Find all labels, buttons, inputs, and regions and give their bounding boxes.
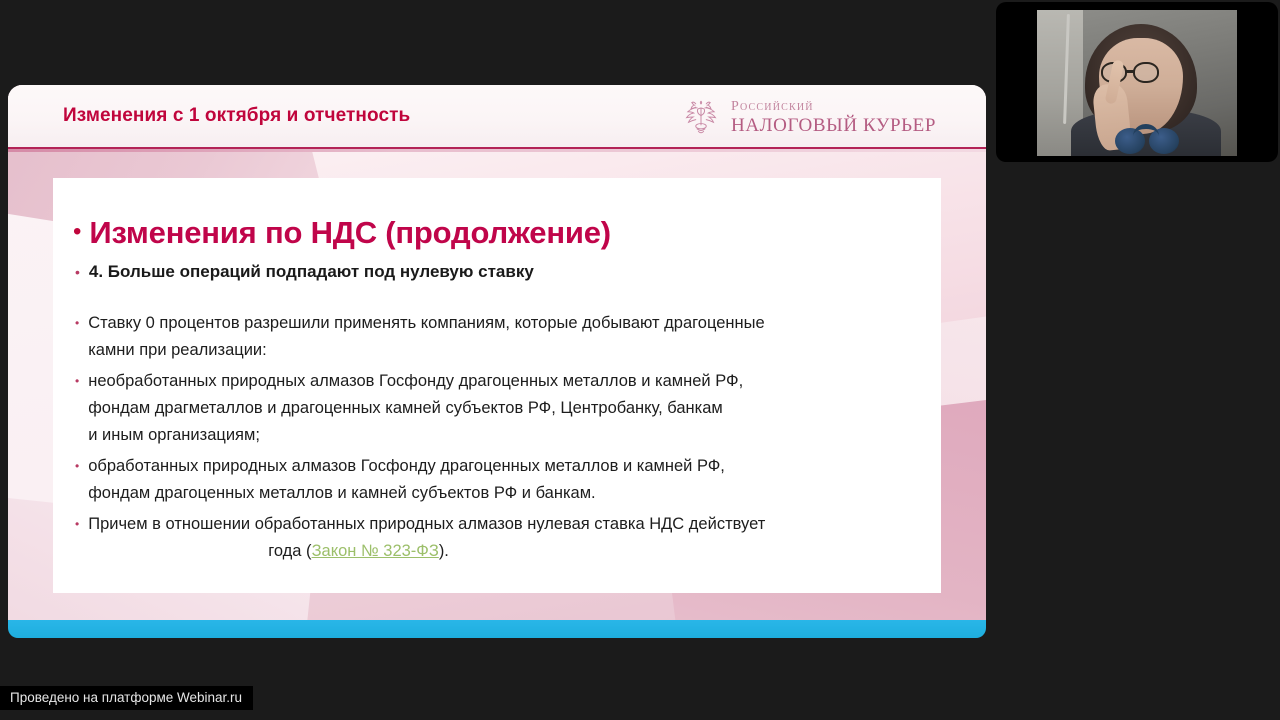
- logo-line-2: НАЛОГОВЫЙ КУРЬЕР: [731, 116, 936, 135]
- list-item-line: Причем в отношении обработанных природны…: [88, 511, 765, 538]
- content-heading-row: • Изменения по НДС (продолжение): [73, 212, 919, 254]
- webcam-video-frame: [1037, 10, 1237, 156]
- list-item-line: и иным организациям;: [88, 422, 743, 449]
- content-heading: Изменения по НДС (продолжение): [89, 212, 611, 254]
- slide-content-card: • Изменения по НДС (продолжение) • 4. Бо…: [53, 178, 941, 593]
- presentation-slide: Изменения с 1 октября и отчетность: [8, 85, 986, 638]
- platform-caption: Проведено на платформе Webinar.ru: [0, 686, 253, 710]
- page-title: Изменения с 1 октября и отчетность: [63, 105, 410, 127]
- list-item-line-with-link: года (Закон № 323-ФЗ).: [88, 538, 765, 565]
- content-subheading: 4. Больше операций подпадают под нулевую…: [89, 260, 534, 284]
- list-item: • обработанных природных алмазов Госфонд…: [75, 453, 919, 507]
- list-item-text: обработанных природных алмазов Госфонду …: [88, 453, 725, 507]
- list-item: • необработанных природных алмазов Госфо…: [75, 368, 919, 449]
- heading-bullet-icon: •: [73, 212, 81, 252]
- list-item-with-link: • Причем в отношении обработанных природ…: [75, 511, 919, 565]
- bullet-icon: •: [75, 511, 79, 538]
- slide-bottom-bar: [8, 620, 986, 638]
- slide-header: Изменения с 1 октября и отчетность: [8, 85, 986, 149]
- law-link[interactable]: Закон № 323-ФЗ: [312, 542, 439, 560]
- list-item-line: Ставку 0 процентов разрешили применять к…: [88, 310, 764, 337]
- brand-logo: Российский НАЛОГОВЫЙ КУРЬЕР: [680, 96, 936, 138]
- double-headed-eagle-icon: [680, 96, 722, 138]
- bullet-icon: •: [75, 310, 79, 337]
- list-item-line: обработанных природных алмазов Госфонду …: [88, 453, 725, 480]
- list-item-text: необработанных природных алмазов Госфонд…: [88, 368, 743, 449]
- list-item-text: Причем в отношении обработанных природны…: [88, 511, 765, 565]
- bullet-list: • Ставку 0 процентов разрешили применять…: [67, 310, 919, 565]
- link-suffix-text: ).: [439, 542, 449, 560]
- logo-line-1: Российский: [731, 100, 936, 114]
- screen: Изменения с 1 октября и отчетность: [0, 0, 1280, 720]
- header-accent-bar: [8, 149, 986, 152]
- list-item-line: фондам драгоценных металлов и камней суб…: [88, 480, 725, 507]
- eyeglasses-bridge: [1126, 70, 1135, 73]
- presenter-webcam[interactable]: [996, 2, 1278, 162]
- list-item-line: камни при реализации:: [88, 337, 764, 364]
- list-item-text: Ставку 0 процентов разрешили применять к…: [88, 310, 764, 364]
- list-item-line: необработанных природных алмазов Госфонд…: [88, 368, 743, 395]
- content-subheading-row: • 4. Больше операций подпадают под нулев…: [75, 260, 919, 284]
- link-prefix-text: года (: [268, 542, 311, 560]
- bullet-icon: •: [75, 453, 79, 480]
- subheading-bullet-icon: •: [75, 260, 80, 284]
- bullet-icon: •: [75, 368, 79, 395]
- eyeglasses-right-lens-icon: [1133, 62, 1159, 83]
- list-item-line: фондам драгметаллов и драгоценных камней…: [88, 395, 743, 422]
- list-item: • Ставку 0 процентов разрешили применять…: [75, 310, 919, 364]
